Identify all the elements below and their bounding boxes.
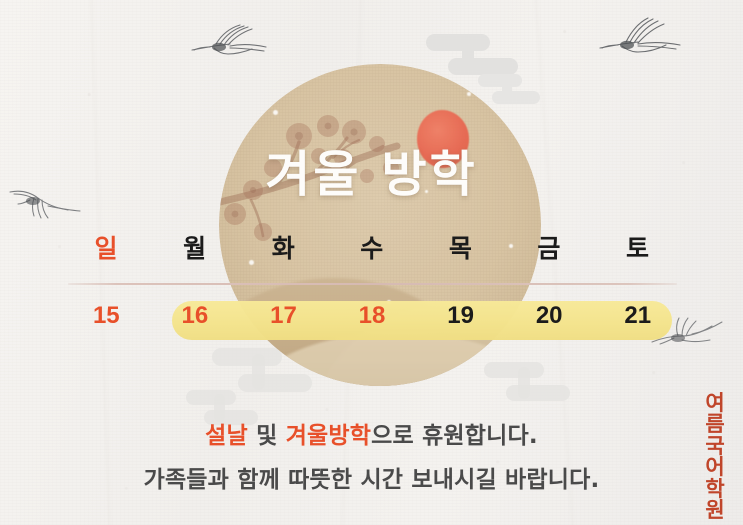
day-header-label: 목 <box>416 236 505 261</box>
day-header-sat: 토 <box>593 236 682 261</box>
day-header-label: 화 <box>239 236 328 261</box>
brand-char: 원 <box>700 500 730 521</box>
notice-line-2: 가족들과 함께 따뜻한 시간 보내시길 바랍니다. <box>0 469 743 492</box>
notice-line-1-tail: 으로 휴원합니다. <box>371 423 538 449</box>
vacation-highlight-bar <box>172 301 672 340</box>
cloud-icon <box>212 348 312 396</box>
day-header-label: 금 <box>505 236 594 261</box>
crane-icon <box>186 20 272 68</box>
snow-dot <box>273 110 278 115</box>
day-header-sun: 일 <box>62 236 151 261</box>
winter-vacation-notice-poster: 겨울 방학 일 월 화 수 목 금 토 15 16 <box>0 0 743 525</box>
cloud-icon <box>186 390 258 426</box>
date-number: 19 <box>447 302 474 329</box>
cloud-icon <box>478 74 540 106</box>
brand-char: 름 <box>700 414 730 435</box>
date-cell: 15 <box>62 304 151 328</box>
day-header-label: 월 <box>151 236 240 261</box>
date-number: 16 <box>182 302 209 329</box>
brand-char: 국 <box>700 436 730 457</box>
page-title: 겨울 방학 <box>0 150 743 199</box>
crane-icon <box>596 12 684 62</box>
snow-dot <box>467 92 471 96</box>
cloud-icon <box>484 362 570 404</box>
brand-char: 여 <box>700 393 730 414</box>
day-header-label: 일 <box>62 236 151 261</box>
day-header-label: 토 <box>593 236 682 261</box>
calendar-day-headers: 일 월 화 수 목 금 토 <box>62 236 682 261</box>
brand-char: 학 <box>700 479 730 500</box>
day-header-fri: 금 <box>505 236 594 261</box>
notice-line-1: 설날 및 겨울방학으로 휴원합니다. <box>0 425 743 448</box>
day-header-label: 수 <box>328 236 417 261</box>
day-header-thu: 목 <box>416 236 505 261</box>
calendar-divider <box>68 283 677 285</box>
academy-brand-vertical: 여 름 국 어 학 원 <box>700 393 730 521</box>
day-header-tue: 화 <box>239 236 328 261</box>
date-number: 18 <box>359 302 386 329</box>
date-number: 21 <box>624 302 651 329</box>
day-header-wed: 수 <box>328 236 417 261</box>
date-number: 15 <box>93 302 120 329</box>
notice-accent-seollal: 설날 <box>205 423 248 449</box>
date-number: 17 <box>270 302 297 329</box>
notice-accent-winter-vacation: 겨울방학 <box>286 423 371 449</box>
notice-conjunction: 및 <box>248 423 286 449</box>
day-header-mon: 월 <box>151 236 240 261</box>
brand-char: 어 <box>700 457 730 478</box>
date-number: 20 <box>536 302 563 329</box>
